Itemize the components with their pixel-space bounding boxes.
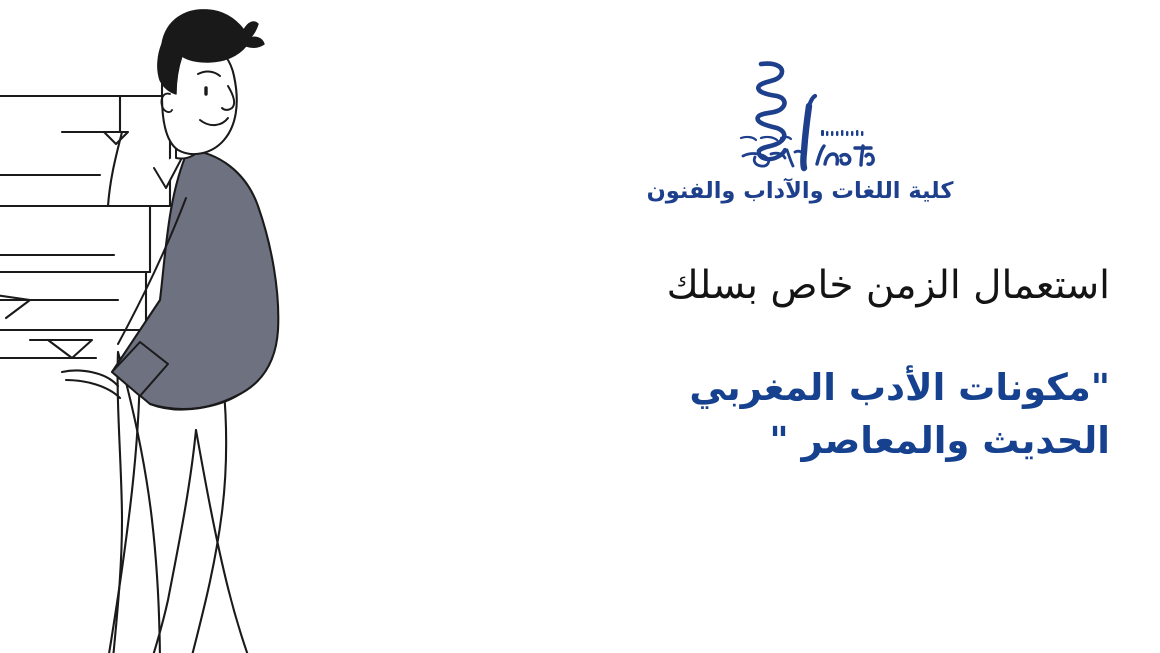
paper-stack-shape: [0, 96, 170, 358]
slide-root: كلية اللغات والآداب والفنون استعمال الزم…: [0, 0, 1160, 653]
logo-latin-label: [821, 130, 863, 136]
faculty-name: كلية اللغات والآداب والفنون: [490, 178, 1110, 205]
university-branding: كلية اللغات والآداب والفنون: [490, 52, 1110, 205]
man-carrying-papers-illustration: [0, 0, 330, 653]
logo-latin-script: [817, 146, 873, 165]
subject-line: استعمال الزمن خاص بسلك: [490, 262, 1110, 311]
logo-arabic-script: [741, 137, 804, 166]
ibn-tofail-university-logo-icon: [725, 52, 875, 174]
content-column: كلية اللغات والآداب والفنون استعمال الزم…: [490, 0, 1110, 653]
program-title: "مكونات الأدب المغربي الحديث والمعاصر ": [590, 362, 1110, 467]
hand-shape: [62, 371, 120, 398]
